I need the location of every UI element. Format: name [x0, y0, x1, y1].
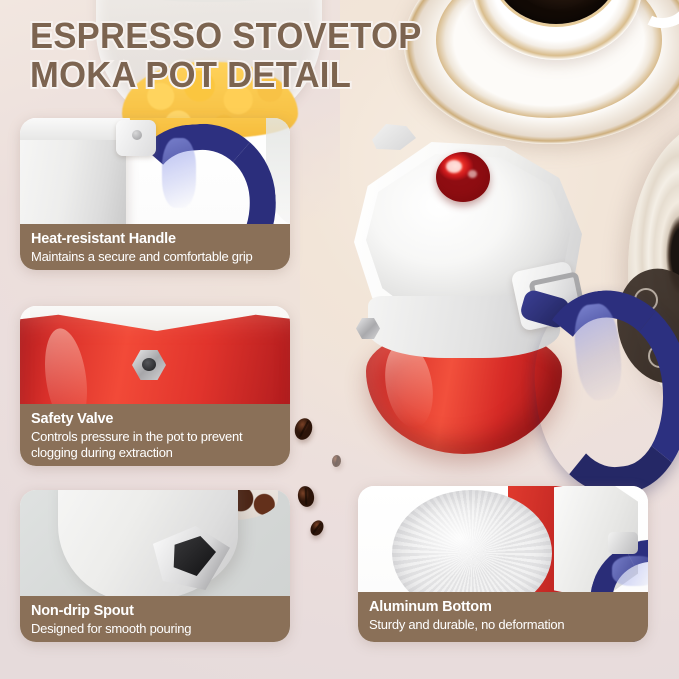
callout-title: Non-drip Spout: [31, 603, 279, 620]
callout-title: Heat-resistant Handle: [31, 231, 279, 248]
page-title-line-1: ESPRESSO STOVETOP: [30, 18, 491, 54]
valve-hole: [142, 358, 156, 371]
handle-gloss: [162, 138, 196, 208]
callout-caption: Aluminum Bottom Sturdy and durable, no d…: [358, 592, 648, 642]
latch-closeup: [608, 532, 638, 554]
callout-subtitle: Controls pressure in the pot to prevent …: [31, 429, 279, 460]
pot-spout: [372, 124, 416, 150]
callout-title: Aluminum Bottom: [369, 599, 637, 616]
callout-caption: Heat-resistant Handle Maintains a secure…: [20, 224, 290, 270]
callout-card-aluminum-bottom[interactable]: Aluminum Bottom Sturdy and durable, no d…: [358, 486, 648, 642]
callout-subtitle: Maintains a secure and comfortable grip: [31, 249, 279, 265]
callout-subtitle: Designed for smooth pouring: [31, 621, 279, 637]
pot-red-knob: [436, 152, 490, 202]
hero-moka-pot: [340, 118, 640, 468]
knob-highlight: [446, 160, 462, 173]
page-title: ESPRESSO STOVETOP MOKA POT DETAIL: [30, 18, 510, 93]
pot-blue-handle: [536, 290, 644, 446]
page-title-line-2: MOKA POT DETAIL: [30, 57, 491, 93]
callout-title: Safety Valve: [31, 411, 279, 428]
pot-lid-closeup: [20, 118, 130, 140]
callout-card-heat-resistant-handle[interactable]: Heat-resistant Handle Maintains a secure…: [20, 118, 290, 270]
callout-card-non-drip-spout[interactable]: Non-drip Spout Designed for smooth pouri…: [20, 490, 290, 642]
callout-card-safety-valve[interactable]: Safety Valve Controls pressure in the po…: [20, 306, 290, 466]
callout-caption: Safety Valve Controls pressure in the po…: [20, 404, 290, 466]
callout-subtitle: Sturdy and durable, no deformation: [369, 617, 637, 633]
product-infographic: ESPRESSO STOVETOP MOKA POT DETAIL Heat-r…: [0, 0, 679, 679]
screw-icon: [132, 130, 142, 140]
callout-caption: Non-drip Spout Designed for smooth pouri…: [20, 596, 290, 642]
handle-gloss: [612, 556, 648, 586]
knob-highlight-small: [468, 170, 477, 178]
